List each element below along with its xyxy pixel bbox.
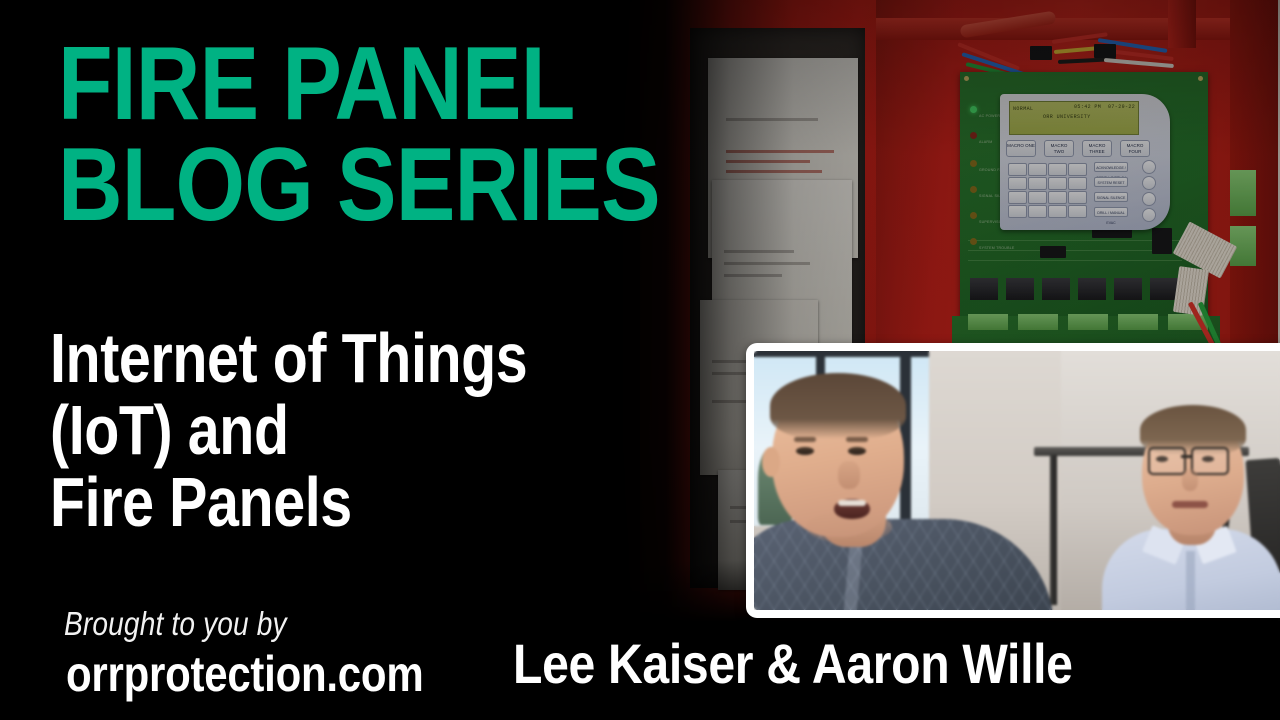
- video-inset[interactable]: [746, 343, 1280, 618]
- presenter-names: Lee Kaiser & Aaron Wille: [513, 631, 1073, 696]
- subtitle-line-1: Internet of Things: [50, 322, 624, 394]
- listener-glasses-lens: [1148, 447, 1186, 475]
- video-frame: [754, 351, 1280, 610]
- speaker-eye: [796, 447, 814, 455]
- speaker-eyebrow: [794, 437, 816, 442]
- subtitle-line-2: (IoT) and: [50, 394, 624, 466]
- attribution-prefix: Brought to you by: [64, 605, 287, 643]
- listener-glasses-lens: [1191, 447, 1229, 475]
- title-line-2: BLOG SERIES: [58, 135, 660, 236]
- speaker-eyebrow: [846, 437, 868, 442]
- subtitle-line-3: Fire Panels: [50, 466, 624, 538]
- title-block: FIRE PANEL BLOG SERIES: [58, 34, 758, 236]
- listener-mouth: [1172, 501, 1208, 508]
- subtitle-block: Internet of Things (IoT) and Fire Panels: [50, 322, 750, 538]
- listener-shirt-placket: [1186, 551, 1195, 610]
- title-line-1: FIRE PANEL: [58, 34, 660, 135]
- speaker-ear: [762, 447, 780, 477]
- title-card: AC POWER ALARM GROUND FAULT SIGNAL SILEN…: [0, 0, 1280, 720]
- speaker-hair: [770, 373, 906, 439]
- listener-nose: [1182, 469, 1198, 491]
- speaker-eye: [848, 447, 866, 455]
- speaker-nose: [838, 461, 860, 489]
- table-leg: [1050, 455, 1057, 605]
- speaker-teeth: [838, 500, 866, 506]
- attribution-url[interactable]: orrprotection.com: [66, 645, 423, 703]
- listener-glasses-bridge: [1181, 455, 1191, 458]
